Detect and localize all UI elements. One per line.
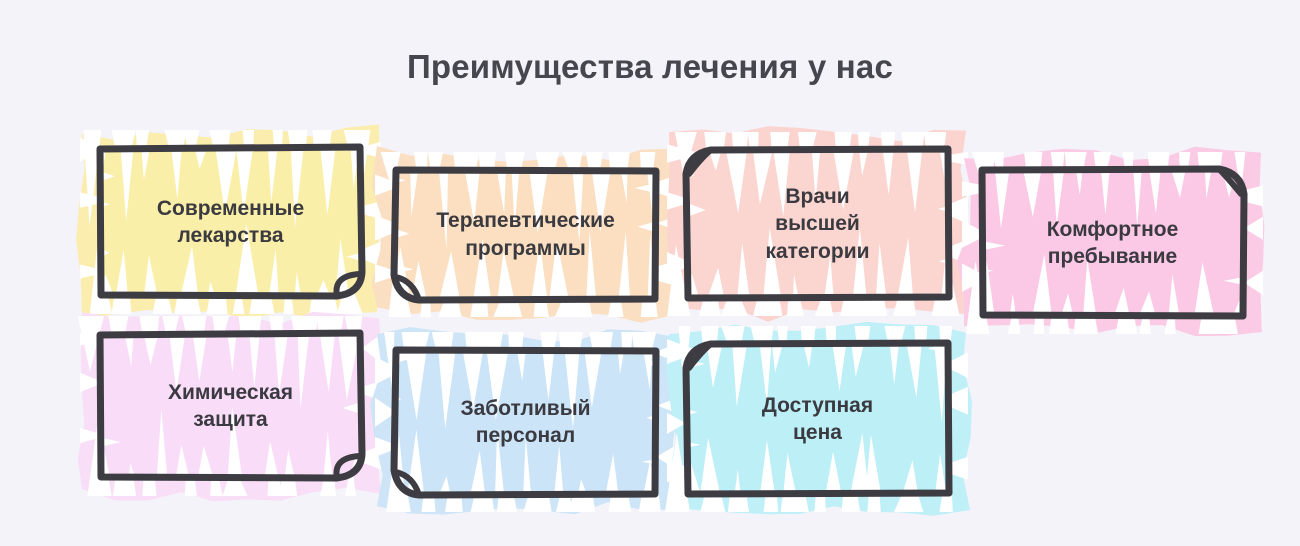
page-title: Преимущества лечения у нас [0,48,1300,86]
benefit-card-caring-staff[interactable]: Заботливый персонал [393,348,658,496]
card-shape [393,348,658,496]
benefit-card-comfortable-stay[interactable]: Комфортное пребывание [980,168,1245,318]
card-shape [685,148,950,300]
card-shape [98,332,363,480]
card-fill [957,149,1265,338]
benefit-card-top-category-doctors[interactable]: Врачи высшей категории [685,148,950,300]
benefits-infographic: Преимущества лечения у нас Современные л… [0,0,1300,546]
card-fill [666,320,970,514]
benefit-card-affordable-price[interactable]: Доступная цена [685,342,950,496]
card-shape [980,168,1245,318]
card-shape [98,146,363,298]
benefit-card-therapeutic-programs[interactable]: Терапевтические программы [393,168,658,301]
benefit-card-chemical-protection[interactable]: Химическая защита [98,332,363,480]
card-fill [667,126,972,321]
card-shape [393,168,658,301]
benefit-card-modern-medicines[interactable]: Современные лекарства [98,146,363,298]
card-shape [685,342,950,496]
